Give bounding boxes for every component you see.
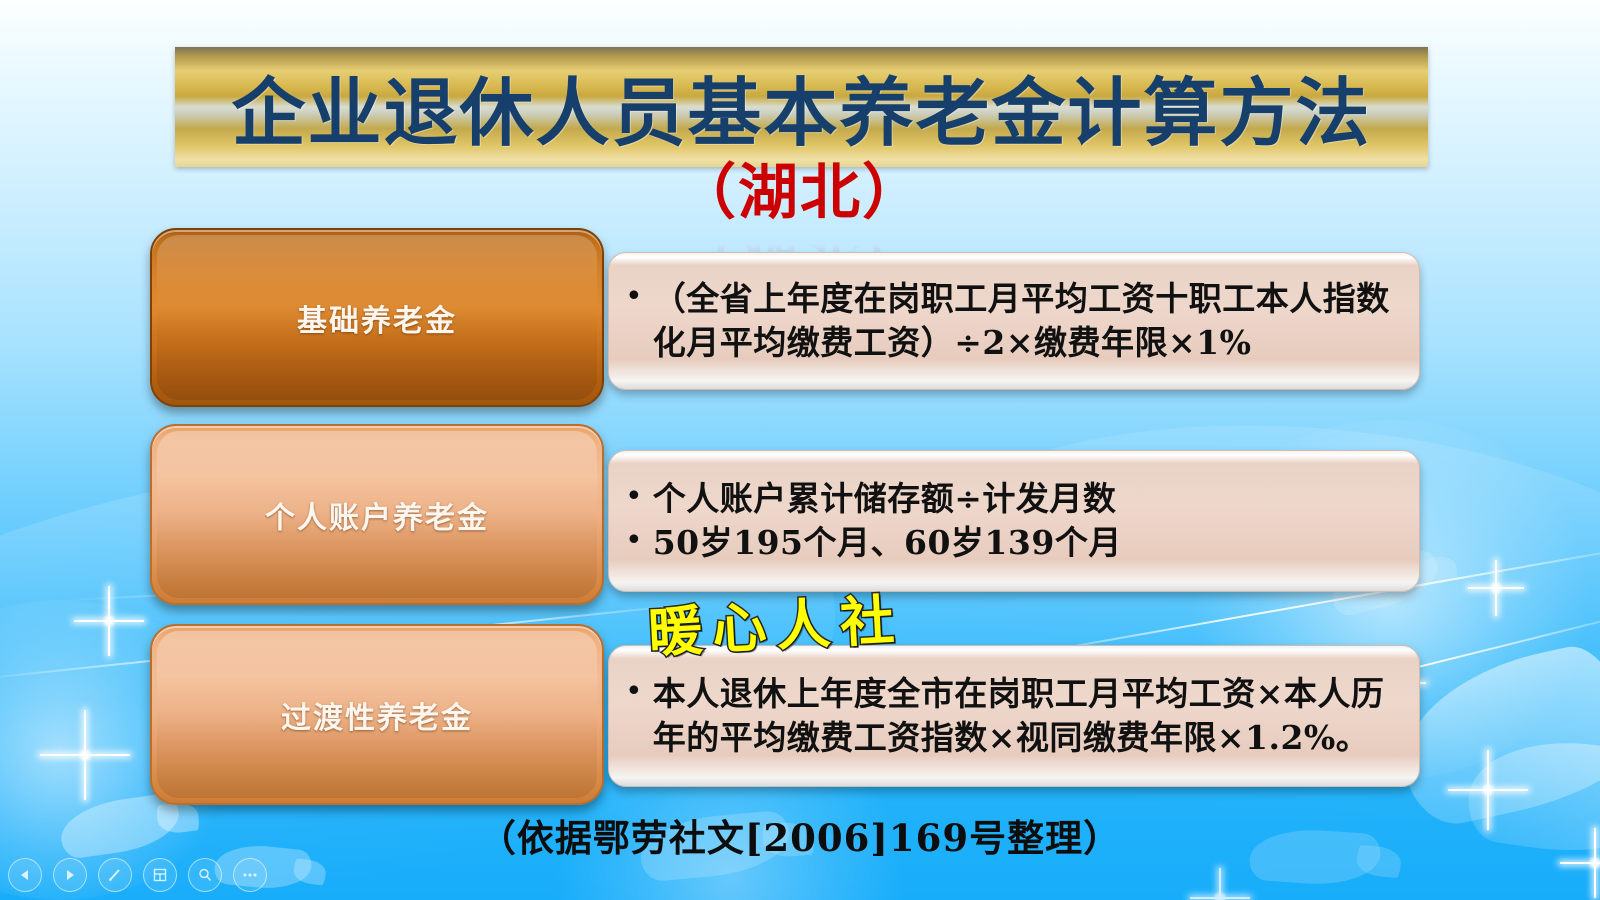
next-slide-icon[interactable] — [53, 858, 87, 892]
bullet-text: 本人退休上年度全市在岗职工月平均工资×本人历年的平均缴费工资指数×视同缴费年限×… — [653, 672, 1405, 760]
bullet-item: • （全省上年度在岗职工月平均工资十职工本人指数化月平均缴费工资）÷2×缴费年限… — [625, 277, 1405, 365]
previous-slide-icon[interactable] — [8, 858, 42, 892]
more-options-icon[interactable] — [233, 858, 267, 892]
bullet-item: • 本人退休上年度全市在岗职工月平均工资×本人历年的平均缴费工资指数×视同缴费年… — [625, 672, 1405, 760]
bullet-icon: • — [625, 277, 643, 317]
label-personal-account-pension[interactable]: 个人账户养老金 — [150, 424, 604, 605]
label-transitional-pension[interactable]: 过渡性养老金 — [150, 624, 604, 805]
label-basic-pension-text: 基础养老金 — [297, 296, 457, 340]
label-personal-account-pension-text: 个人账户养老金 — [265, 493, 489, 537]
bullet-text: 个人账户累计储存额÷计发月数 — [653, 477, 1405, 521]
content-transitional-pension: • 本人退休上年度全市在岗职工月平均工资×本人历年的平均缴费工资指数×视同缴费年… — [608, 645, 1420, 787]
bullet-icon: • — [625, 672, 643, 712]
bullet-item: • 个人账户累计储存额÷计发月数 — [625, 477, 1405, 521]
content-personal-account-pension: • 个人账户累计储存额÷计发月数 • 50岁195个月、60岁139个月 — [608, 450, 1420, 592]
source-note: （依据鄂劳社文[2006]169号整理） — [0, 808, 1600, 862]
pen-tool-icon[interactable] — [98, 858, 132, 892]
bullet-text: 50岁195个月、60岁139个月 — [653, 521, 1405, 565]
bullet-icon: • — [625, 521, 643, 561]
title-banner: 企业退休人员基本养老金计算方法 — [175, 47, 1428, 167]
bullet-text: （全省上年度在岗职工月平均工资十职工本人指数化月平均缴费工资）÷2×缴费年限×1… — [653, 277, 1405, 365]
presentation-slide: 企业退休人员基本养老金计算方法 （湖北） （湖北） 基础养老金 • （全省上年度… — [0, 0, 1600, 900]
page-title: 企业退休人员基本养老金计算方法 — [175, 54, 1428, 161]
zoom-tool-icon[interactable] — [188, 858, 222, 892]
bullet-item: • 50岁195个月、60岁139个月 — [625, 521, 1405, 565]
label-basic-pension[interactable]: 基础养老金 — [150, 228, 604, 407]
content-basic-pension: • （全省上年度在岗职工月平均工资十职工本人指数化月平均缴费工资）÷2×缴费年限… — [608, 252, 1420, 390]
slide-grid-icon[interactable] — [143, 858, 177, 892]
label-transitional-pension-text: 过渡性养老金 — [281, 693, 473, 737]
watermark: 暖心人社 — [646, 575, 906, 667]
slideshow-controls — [8, 858, 267, 892]
subtitle: （湖北） — [0, 163, 1600, 223]
bullet-icon: • — [625, 477, 643, 517]
